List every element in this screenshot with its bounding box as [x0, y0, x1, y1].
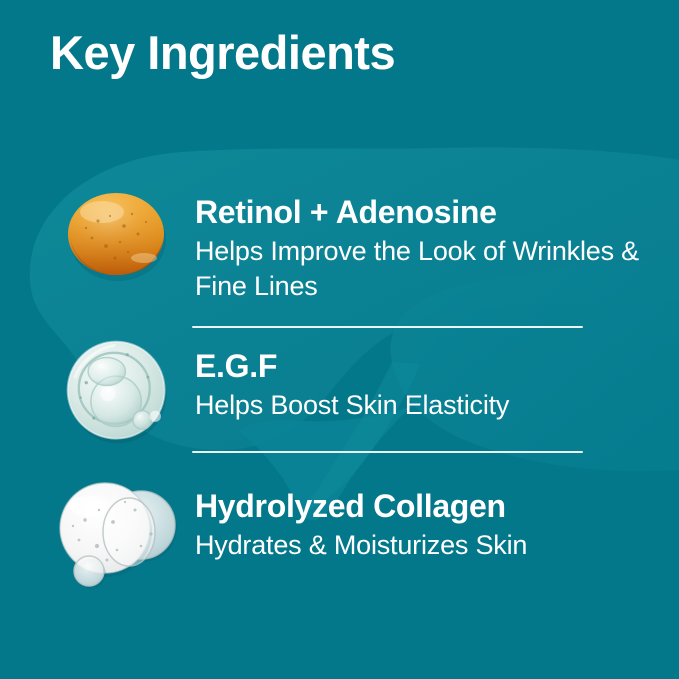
page-title: Key Ingredients — [50, 28, 395, 79]
divider-line — [192, 451, 583, 453]
ingredient-description: Helps Improve the Look of Wrinkles & Fin… — [195, 234, 665, 305]
ingredient-description: Hydrates & Moisturizes Skin — [195, 528, 665, 564]
ingredient-item: E.G.F Helps Boost Skin Elasticity — [0, 332, 679, 462]
ingredient-item: Hydrolyzed Collagen Hydrates & Moisturiz… — [0, 470, 679, 600]
amber-gel-droplet-swatch — [58, 176, 178, 296]
mint-gel-droplet-swatch — [62, 336, 174, 448]
ingredient-description: Helps Boost Skin Elasticity — [195, 388, 665, 424]
divider-line — [192, 326, 583, 328]
ingredient-name: E.G.F — [195, 348, 665, 386]
clear-gel-droplet-swatch — [55, 480, 185, 600]
key-ingredients-graphic: Key Ingredients — [0, 0, 679, 679]
ingredient-text-block: Retinol + Adenosine Helps Improve the Lo… — [195, 194, 665, 305]
ingredient-name: Retinol + Adenosine — [195, 194, 665, 232]
ingredient-text-block: E.G.F Helps Boost Skin Elasticity — [195, 348, 665, 423]
ingredient-text-block: Hydrolyzed Collagen Hydrates & Moisturiz… — [195, 488, 665, 563]
ingredient-name: Hydrolyzed Collagen — [195, 488, 665, 526]
ingredient-item: Retinol + Adenosine Helps Improve the Lo… — [0, 176, 679, 306]
